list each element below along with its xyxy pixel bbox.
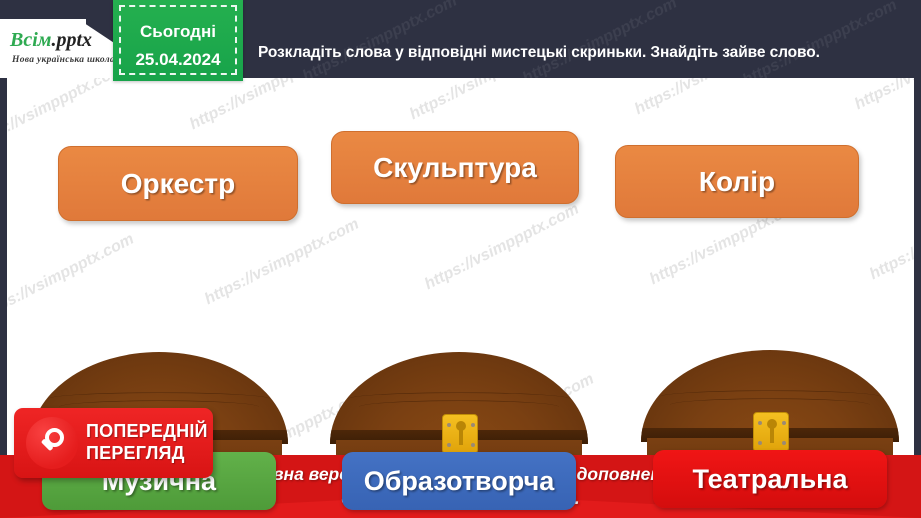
preview-badge-line-1: ПОПЕРЕДНІЙ — [86, 420, 208, 442]
date-tag-label: Сьогодні — [113, 22, 243, 42]
slide-canvas: https://vsimppptx.com https://vsimppptx.… — [0, 0, 921, 518]
chest-label: Образотворча — [364, 466, 555, 497]
chest-lock-icon — [442, 414, 478, 454]
word-card-orkestr[interactable]: Оркестр — [58, 146, 298, 221]
preview-badge: ПОПЕРЕДНІЙ ПЕРЕГЛЯД — [14, 408, 213, 478]
word-card-skulptura[interactable]: Скульптура — [331, 131, 579, 204]
chest-rivet — [782, 421, 786, 425]
chest-rivet — [758, 441, 762, 445]
chest-rivet — [758, 421, 762, 425]
chest-lid-swirl — [670, 398, 870, 411]
chest-lid-swirl — [359, 400, 559, 413]
treasure-chest-teatralna[interactable]: Театральна — [641, 350, 899, 510]
logo-main-green: Всім — [10, 29, 51, 51]
word-card-kolir[interactable]: Колір — [615, 145, 859, 218]
chest-plaque: Образотворча — [342, 452, 576, 510]
magnifier-icon — [26, 417, 78, 469]
word-card-label: Оркестр — [121, 168, 236, 200]
treasure-chest-obrazotvorcha[interactable]: Образотворча — [330, 352, 588, 512]
date-tag-value: 25.04.2024 — [113, 50, 243, 70]
word-card-label: Колір — [699, 166, 775, 198]
chest-label: Театральна — [693, 464, 848, 495]
chest-rivet — [471, 423, 475, 427]
preview-badge-text: ПОПЕРЕДНІЙ ПЕРЕГЛЯД — [86, 420, 208, 464]
preview-badge-line-2: ПЕРЕГЛЯД — [86, 442, 208, 464]
logo-subtitle: Нова українська школа — [12, 55, 115, 65]
date-tag: Сьогодні 25.04.2024 — [113, 0, 243, 81]
logo-main-dark: .pptx — [51, 29, 92, 51]
chest-rivet — [447, 443, 451, 447]
word-card-label: Скульптура — [373, 152, 537, 184]
instruction-text: Розкладіть слова у відповідні мистецькі … — [258, 44, 913, 62]
chest-rivet — [782, 441, 786, 445]
chest-lock-icon — [753, 412, 789, 452]
logo-wordmark: Всім.pptx — [10, 29, 92, 52]
chest-rivet — [447, 423, 451, 427]
chest-plaque: Театральна — [653, 450, 887, 508]
chest-rivet — [471, 443, 475, 447]
